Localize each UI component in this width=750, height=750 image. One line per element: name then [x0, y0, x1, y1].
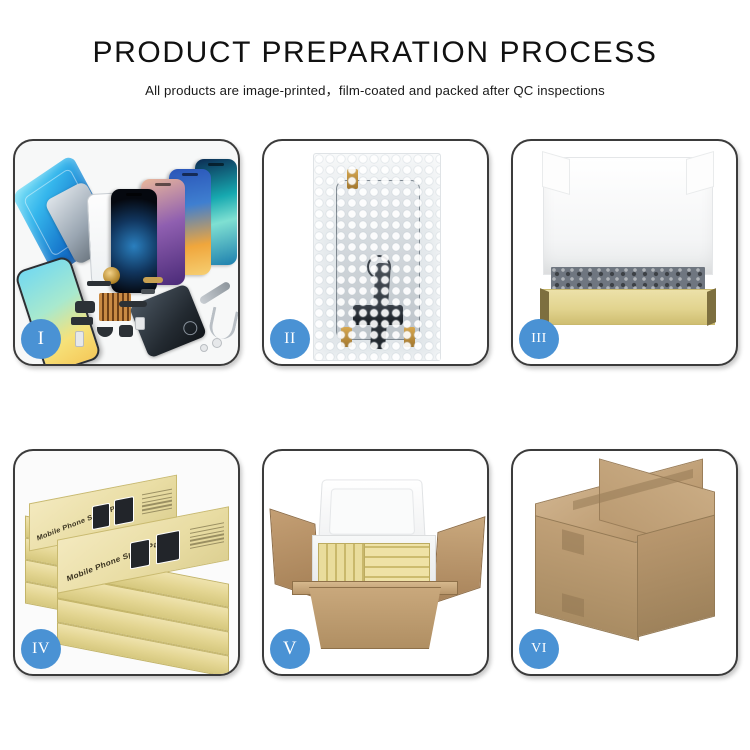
- carton-front-icon: [300, 587, 450, 649]
- step-panel-2: II: [262, 139, 489, 366]
- yellow-box-base-icon: [541, 289, 715, 325]
- process-step-grid: I II: [13, 139, 737, 676]
- page-subtitle: All products are image-printed，film-coat…: [0, 80, 750, 99]
- step-badge-6: VI: [519, 629, 559, 669]
- part-flex-cable-icon: [119, 301, 147, 307]
- page-title: PRODUCT PREPARATION PROCESS: [0, 36, 750, 69]
- step-badge-2: II: [270, 319, 310, 359]
- part-small-icon: [141, 289, 155, 294]
- part-speaker-icon: [97, 327, 113, 337]
- spec-lines: [190, 522, 224, 551]
- step-panel-4: Mobile Phone Spare Parts Mobile Phone Sp…: [13, 449, 240, 676]
- notch-icon: [126, 193, 142, 196]
- carton-hand-hole-icon: [562, 593, 584, 617]
- camera-ring-icon: [181, 319, 199, 337]
- white-foam-lid-icon: [543, 157, 713, 275]
- step-numeral: I: [38, 328, 45, 350]
- part-gold-connector-icon: [143, 277, 163, 283]
- step-numeral: II: [284, 330, 296, 348]
- step-badge-4: IV: [21, 629, 61, 669]
- screen-swatch-icon: [130, 539, 150, 570]
- step-panel-1: I: [13, 139, 240, 366]
- step-panel-6: VI: [511, 449, 738, 676]
- part-chip-icon: [135, 317, 145, 330]
- product-preparation-infographic: PRODUCT PREPARATION PROCESS All products…: [0, 0, 750, 750]
- spudger-tool-icon: [198, 281, 231, 306]
- step-numeral: III: [531, 331, 547, 347]
- step-numeral: VI: [531, 641, 547, 657]
- step-panel-3: III: [511, 139, 738, 366]
- carton-right-face-icon: [637, 515, 715, 638]
- bubble-wrap-bag-icon: [313, 153, 441, 361]
- notch-icon: [182, 173, 198, 176]
- header: PRODUCT PREPARATION PROCESS All products…: [0, 0, 750, 99]
- step-numeral: V: [283, 638, 297, 660]
- chip-grid-icon: [99, 293, 131, 321]
- carton-hand-hole-icon: [562, 529, 584, 555]
- part-strip-icon: [87, 281, 111, 286]
- screw-icon: [200, 344, 208, 352]
- part-sim-tray-icon: [75, 331, 84, 347]
- spec-lines: [142, 489, 172, 518]
- part-module-icon: [75, 301, 95, 313]
- step-panel-5: V: [262, 449, 489, 676]
- retail-box-stack: Mobile Phone Spare Parts Mobile Phone Sp…: [23, 469, 235, 659]
- bubble-texture: [314, 154, 440, 360]
- screen-swatch-icon: [156, 530, 180, 565]
- notch-icon: [208, 163, 224, 166]
- step-badge-1: I: [21, 319, 61, 359]
- step-badge-3: III: [519, 319, 559, 359]
- screw-icon: [212, 338, 222, 348]
- step-numeral: IV: [32, 640, 50, 658]
- screen-swatch-icon: [92, 503, 110, 530]
- notch-icon: [155, 183, 171, 186]
- part-vibrator-icon: [119, 325, 133, 337]
- screen-swatch-icon: [114, 496, 134, 526]
- part-bracket-icon: [71, 317, 93, 325]
- tweezers-icon: [207, 307, 238, 342]
- step-badge-5: V: [270, 629, 310, 669]
